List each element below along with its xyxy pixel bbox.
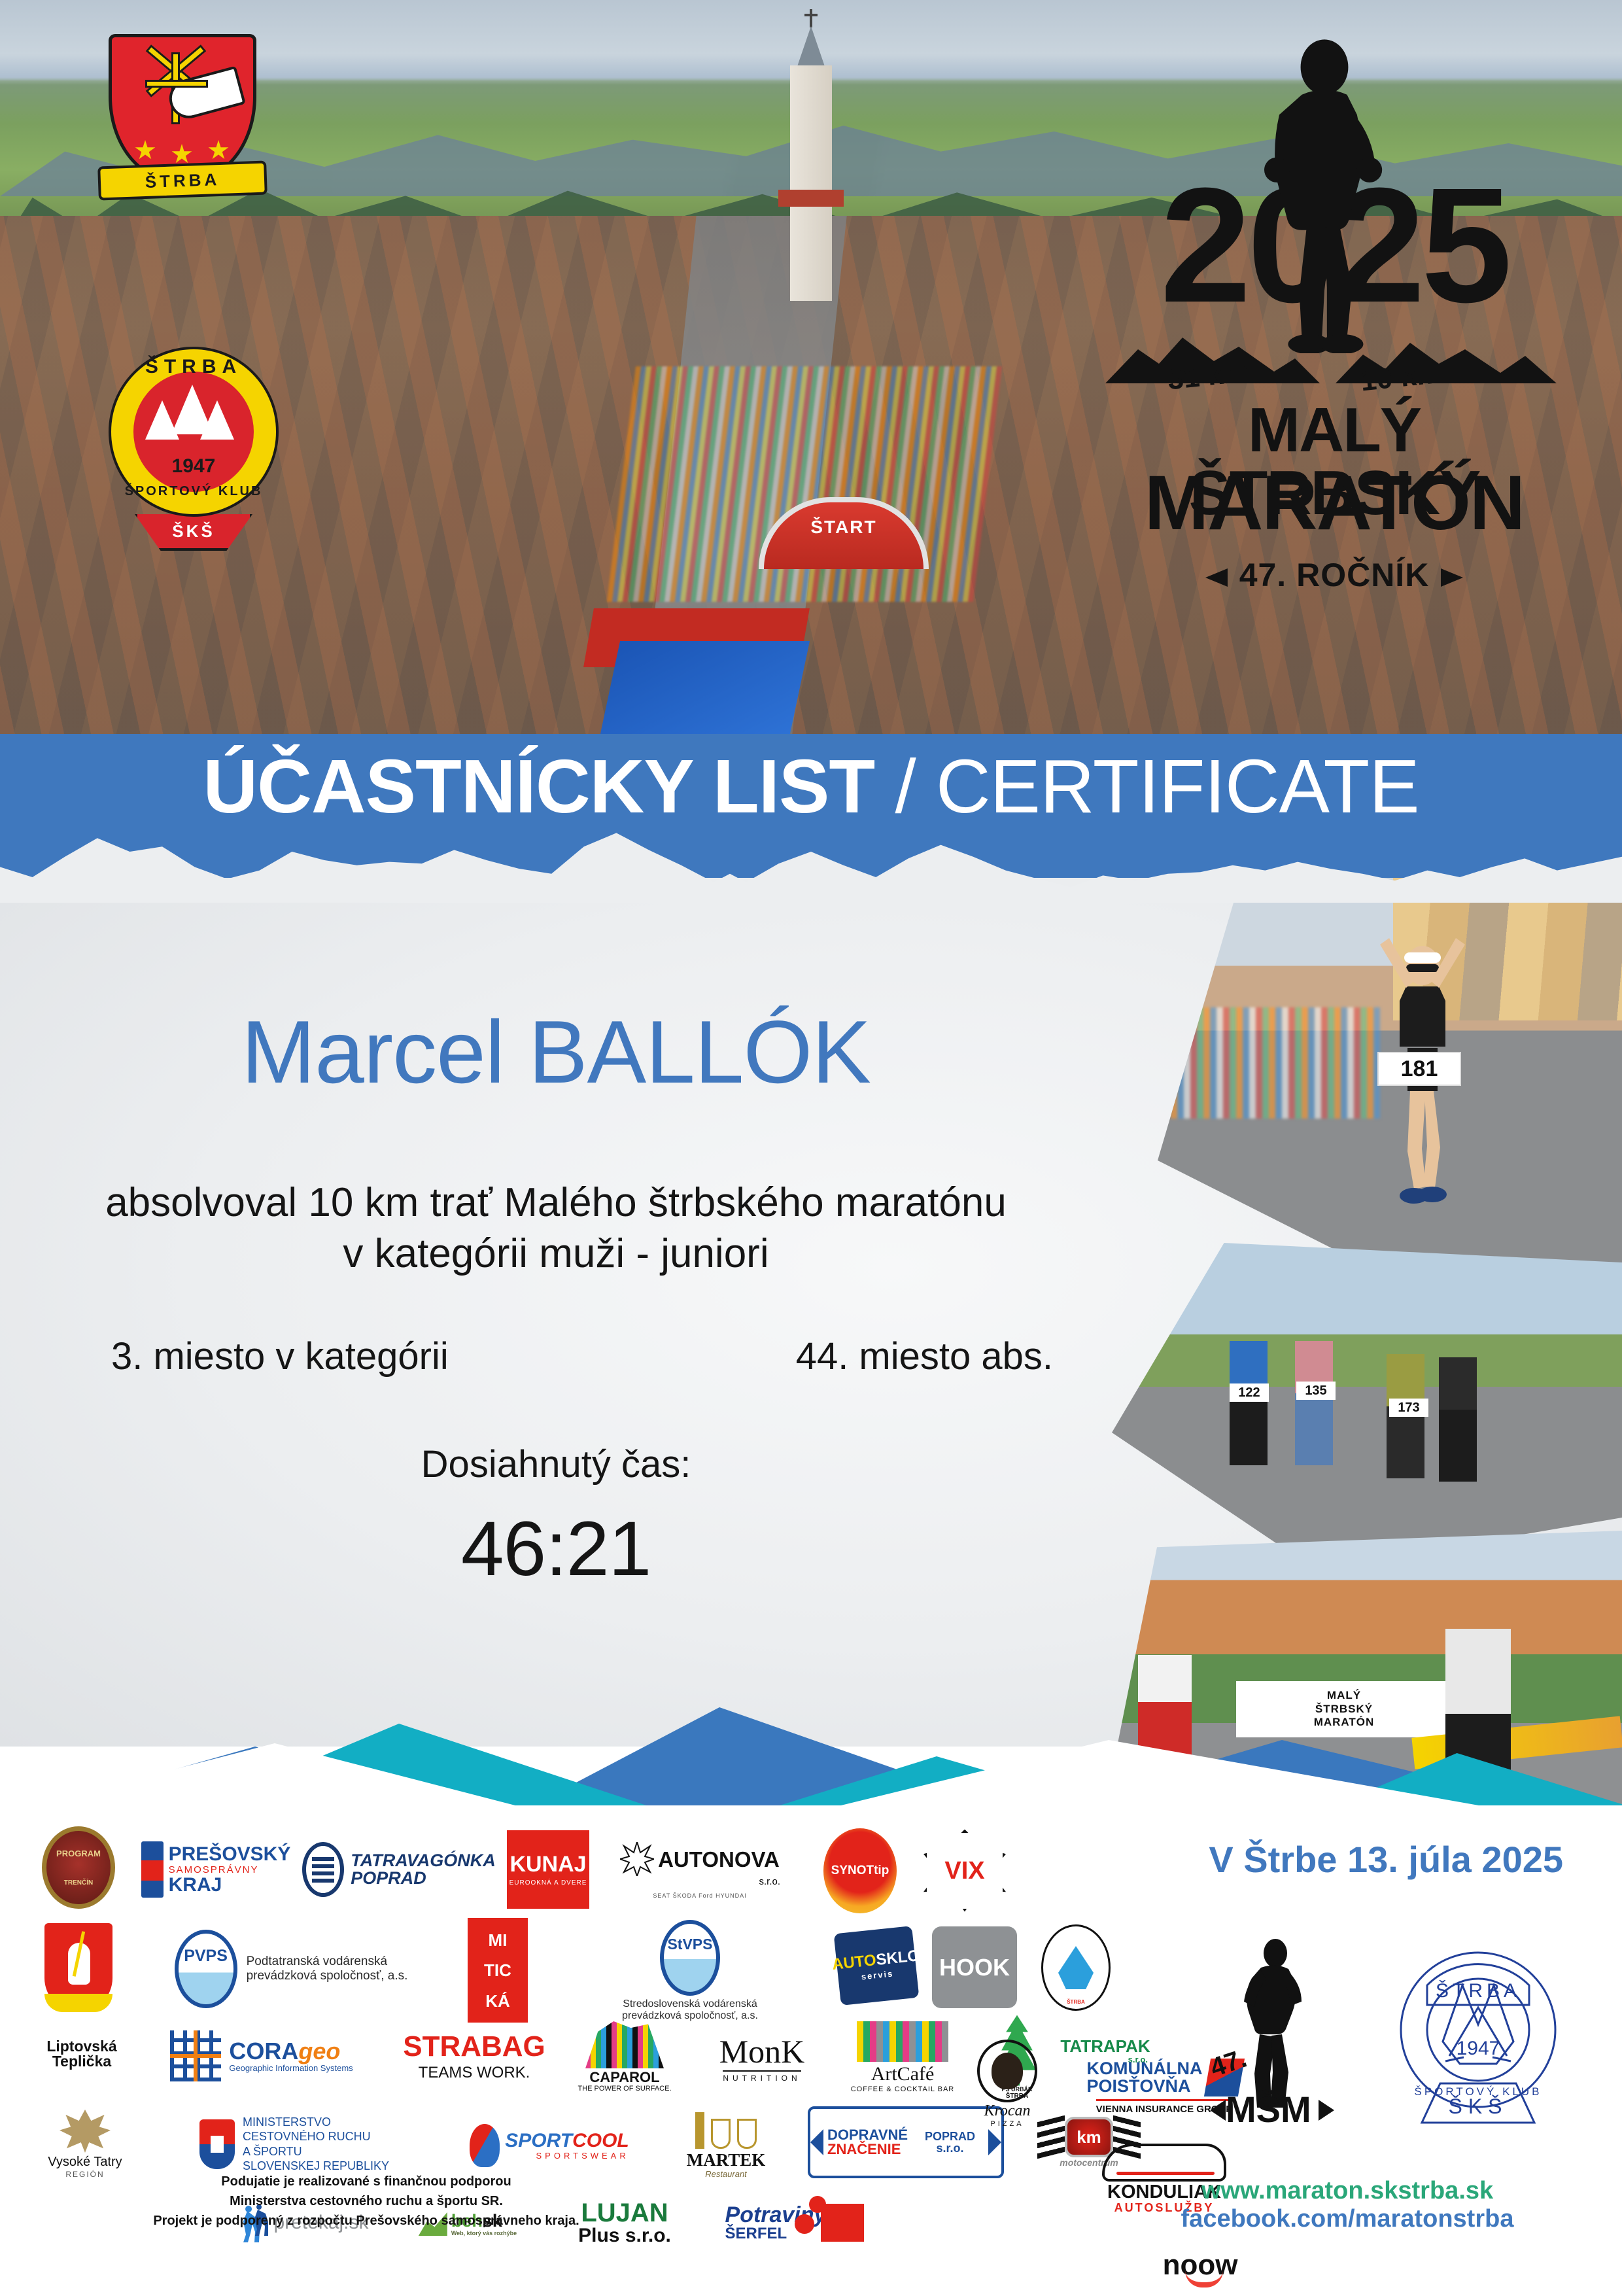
strba-coat-of-arms: ŠTRBA xyxy=(109,34,256,182)
edition-arrow-right-icon xyxy=(1441,568,1463,587)
club-logo-bottom-text: ŠPORTOVÝ KLUB xyxy=(109,484,279,499)
sponsor-name-line: POPRAD xyxy=(351,1870,495,1887)
support-statement: Podujatie je realizované s finančnou pod… xyxy=(72,2172,661,2231)
website-url[interactable]: www.maraton.skstrba.sk xyxy=(1118,2177,1576,2205)
sponsor-name-line: Restaurant xyxy=(705,2169,747,2179)
time-label: Dosiahnutý čas: xyxy=(0,1442,1112,1486)
sponsor-name-line: STRABAG xyxy=(403,2032,545,2061)
sks-abbr: ŠKŠ xyxy=(1448,2095,1508,2118)
club-logo-top-text: ŠTRBA xyxy=(109,356,279,378)
sponsor-logo[interactable] xyxy=(39,1920,118,2015)
certificate-title: ÚČASTNÍCKY LIST / CERTIFICATE xyxy=(0,748,1622,824)
sponsor-name-line: MINISTERSTVO xyxy=(243,2115,389,2130)
collage-photo-group-run: 122 135 173 xyxy=(1112,1243,1622,1570)
sponsor-logo[interactable]: SYNOTtip xyxy=(818,1826,903,1915)
support-line-1: Podujatie je realizované s finančnou pod… xyxy=(72,2172,661,2191)
sponsor-name-line: prevádzková spoločnosť, a.s. xyxy=(247,1969,408,1983)
sponsor-name-line: ArtCafé xyxy=(871,2063,935,2085)
sponsor-name-line: EUROOKNÁ A DVERE xyxy=(509,1879,587,1887)
sponsor-name-line: Krocan xyxy=(984,2102,1030,2120)
collage-runner xyxy=(1230,1341,1268,1465)
sponsor-name-line: Vysoké Tatry xyxy=(48,2155,122,2170)
sponsor-name-line: Liptovská xyxy=(46,2039,116,2054)
support-line-3: Projekt je podporený z rozpočtu Prešovsk… xyxy=(72,2211,661,2231)
title-separator: / xyxy=(874,744,936,829)
sponsor-logo[interactable]: PROGRAM TRENČÍN xyxy=(36,1825,121,1910)
sponsor-name-line: ŠTRBA xyxy=(1067,1999,1085,2005)
sponsor-name-line: servis xyxy=(861,1969,894,1981)
msm-abbr: MŠM xyxy=(1226,2089,1311,2130)
sponsor-logo[interactable]: AUTOSKLO servis xyxy=(834,1926,920,2006)
sponsor-name-line: TEAMS WORK. xyxy=(419,2064,530,2082)
sponsor-logo-grid: PROGRAM TRENČÍN PREŠOVSKÝ SAMOSPRÁVNY KR… xyxy=(36,1812,1148,2204)
msm-edition: 47. xyxy=(1207,2044,1250,2083)
sponsor-name-line: PVPS xyxy=(184,1948,228,1964)
sponsor-logo[interactable]: CAPAROL THE POWER OF SURFACE. xyxy=(572,2016,677,2098)
church-roof xyxy=(778,190,844,207)
collage-bib-number: 122 xyxy=(1230,1383,1269,1402)
collage-photo-finisher: 181 xyxy=(1158,877,1622,1282)
finish-time-value: 46:21 xyxy=(0,1505,1112,1593)
sponsor-name-line: SPORTSWEAR xyxy=(505,2151,629,2161)
starburst-icon xyxy=(620,1842,654,1876)
sponsor-name-line: Podtatranská vodárenská xyxy=(247,1955,408,1969)
sponsor-name-line: PIZZA xyxy=(990,2120,1024,2128)
sponsor-name-line: SAMOSPRÁVNY xyxy=(169,1864,291,1875)
runner-silhouette-icon xyxy=(1249,39,1400,353)
sponsor-logo[interactable]: ArtCafé COFFEE & COCKTAIL BAR xyxy=(840,2015,965,2100)
collage-bib-number: 135 xyxy=(1296,1382,1336,1400)
sponsor-name-line: ZNAČENIE xyxy=(827,2142,908,2157)
photo-collage: 181 122 135 173 MALÝ ŠTRBSKÝ MARATÓN xyxy=(1099,877,1622,1727)
sks-year: 1947 xyxy=(1457,2038,1500,2059)
sponsor-name-line: KÁ xyxy=(485,1992,510,2009)
sponsor-name-line: KOMUNÁLNA xyxy=(1087,2060,1203,2078)
sponsor-name-line: SYNOTtip xyxy=(831,1864,889,1877)
sponsor-name-line: HOOK xyxy=(939,1956,1010,1979)
sponsor-name-line: COFFEE & COCKTAIL BAR xyxy=(851,2085,955,2093)
sponsor-logo[interactable]: PREŠOVSKÝ SAMOSPRÁVNY KRAJ xyxy=(134,1830,298,1909)
sponsor-logo[interactable]: MonK NUTRITION xyxy=(697,2020,827,2095)
sponsor-name-line: CESTOVNÉHO RUCHU xyxy=(243,2129,389,2144)
sponsor-logo[interactable]: noow xyxy=(1138,2234,1262,2296)
event-edition: 47. ROČNÍK xyxy=(1099,556,1570,594)
event-logo: 2025 31 km 10 km MALÝ ŠTRBSKÝ MARATÓN 47… xyxy=(1099,39,1570,602)
sks-top-text: ŠTRBA xyxy=(1436,1979,1521,2002)
sponsor-name-line: MonK xyxy=(719,2032,805,2070)
sponsor-name-line: TATRAVAGÓNKA xyxy=(351,1852,495,1870)
sponsor-name-line: TRENČÍN xyxy=(64,1880,93,1887)
sponsor-name-line: TIC xyxy=(484,1962,511,1979)
edition-arrow-left-icon xyxy=(1205,568,1228,587)
sponsor-logo[interactable]: CORAgeo Geographic Information Systems xyxy=(141,2020,383,2092)
sponsor-logo[interactable]: KUNAJ EUROOKNÁ A DVERE xyxy=(507,1830,589,1909)
sponsor-name-line: NUTRITION xyxy=(723,2070,801,2083)
sponsor-logo[interactable]: HOOK xyxy=(932,1926,1017,2008)
edition-label: 47. ROČNÍK xyxy=(1239,557,1430,593)
msm-seal: 47. MŠM xyxy=(1203,1936,1341,2132)
club-logo-year: 1947 xyxy=(109,455,279,478)
sponsor-name-line: MARTEK xyxy=(687,2151,766,2169)
placement-row: 3. miesto v kategórii 44. miesto abs. xyxy=(65,1334,1099,1378)
sponsor-name-line: MI xyxy=(489,1932,508,1949)
support-line-2: Ministerstva cestovného ruchu a športu S… xyxy=(72,2191,661,2211)
sponsor-name-line: KUNAJ xyxy=(509,1853,586,1875)
hero-church xyxy=(772,26,850,301)
facebook-url[interactable]: facebook.com/maratonstrba xyxy=(1118,2205,1576,2233)
title-light-part: CERTIFICATE xyxy=(936,744,1419,829)
sponsor-name-line: Web, ktorý vás rozhýbe xyxy=(451,2230,517,2236)
sks-bottom-text: ŠPORTOVÝ KLUB xyxy=(1415,2085,1542,2098)
sponsor-name-line: THE POWER OF SURFACE. xyxy=(578,2085,671,2093)
sponsor-logo[interactable]: TATRAVAGÓNKA POPRAD xyxy=(307,1832,491,1907)
sponsor-name-line: Teplička xyxy=(52,2054,111,2069)
sks-stamp-icon: ŠTRBA 1947 ŠKŠ ŠPORTOVÝ KLUB xyxy=(1380,1926,1576,2136)
sponsor-name-line: POPRAD s.r.o. xyxy=(916,2131,984,2154)
club-logo-peak-center xyxy=(171,385,213,434)
sponsor-name-line: Geographic Information Systems xyxy=(229,2063,353,2073)
sponsor-logo[interactable]: VIX xyxy=(919,1826,1010,1915)
title-bold-part: ÚČASTNÍCKY LIST xyxy=(203,744,874,829)
place-absolute: 44. miesto abs. xyxy=(796,1334,1053,1378)
sponsor-logo[interactable]: Krocan PIZZA xyxy=(958,2038,1056,2129)
sponsor-logo[interactable]: PVPS Podtatranská vodárenská prevádzková… xyxy=(128,1923,455,2015)
collage-bib-number: 173 xyxy=(1389,1399,1428,1417)
description-line-2: v kategórii muži - juniori xyxy=(0,1228,1112,1279)
collage-spectators xyxy=(1171,1007,1380,1119)
sponsor-name-line: SEAT ŠKODA Ford HYUNDAI xyxy=(653,1892,746,1899)
certificate-date: V Štrbe 13. júla 2025 xyxy=(1209,1838,1563,1881)
sponsor-name-line: A ŠPORTU xyxy=(243,2144,389,2159)
sponsor-name-line: CAPAROL xyxy=(589,2070,659,2085)
sponsor-name-line: DOPRAVNÉ xyxy=(827,2128,908,2142)
place-in-category: 3. miesto v kategórii xyxy=(111,1334,449,1378)
msm-runner-icon: 47. MŠM xyxy=(1203,1936,1341,2132)
sponsor-logo[interactable]: StVPS Stredoslovenská vodárenská prevádz… xyxy=(553,1922,827,2020)
sponsor-name-line: AUTONOVA xyxy=(658,1849,780,1870)
sponsor-name-line: Stredoslovenská vodárenská xyxy=(623,1998,757,2010)
certificate-description: absolvoval 10 km trať Malého štrbského m… xyxy=(0,1177,1112,1279)
start-arch-label: ŠTART xyxy=(764,517,923,538)
sponsor-logo[interactable]: Potraviny ŠERFEL xyxy=(710,2190,880,2255)
collage-runner xyxy=(1439,1357,1477,1482)
sponsor-name-line: PROGRAM xyxy=(56,1849,101,1858)
sponsor-logo[interactable]: STRABAG TEAMS WORK. xyxy=(392,2021,556,2093)
sponsor-name-line: POISŤOVŇA xyxy=(1087,2078,1203,2095)
participant-name: Marcel BALLÓK xyxy=(0,1001,1112,1103)
sponsor-logo[interactable]: MI TIC KÁ xyxy=(468,1918,528,2023)
coat-crossbar xyxy=(145,80,208,88)
church-cross-icon xyxy=(810,9,812,27)
collage-runner xyxy=(1295,1341,1333,1465)
event-title-line2: MARATÓN xyxy=(1099,464,1570,542)
club-logo-sk-strba: ŠKŠ ŠTRBA 1947 ŠPORTOVÝ KLUB xyxy=(109,327,279,536)
sponsor-name-line: VIX xyxy=(944,1858,984,1883)
sponsor-logo[interactable]: Liptovská Teplička xyxy=(36,2025,128,2083)
description-line-1: absolvoval 10 km trať Malého štrbského m… xyxy=(0,1177,1112,1228)
web-links: www.maraton.skstrba.sk facebook.com/mara… xyxy=(1118,2177,1576,2233)
sponsor-name-line: PREŠOVSKÝ xyxy=(169,1845,291,1864)
coat-banner-label: ŠTRBA xyxy=(97,161,267,201)
collage-bib-number: 181 xyxy=(1377,1052,1461,1086)
sponsor-logo[interactable]: MARTEK Restaurant xyxy=(654,2100,798,2191)
sponsor-footer: V Štrbe 13. júla 2025 PROGRAM TRENČÍN PR… xyxy=(0,1805,1622,2295)
event-distances: 31 km 10 km xyxy=(1099,321,1570,399)
sks-stamp-seal: ŠTRBA 1947 ŠKŠ ŠPORTOVÝ KLUB xyxy=(1380,1926,1576,2136)
sponsor-logo[interactable]: AUTONOVA s.r.o. SEAT ŠKODA Ford HYUNDAI xyxy=(605,1826,795,1915)
church-tower xyxy=(790,65,832,301)
sponsor-name-line: StVPS xyxy=(667,1937,712,1952)
sponsor-logo[interactable]: ŠTRBA xyxy=(1037,1922,1115,2013)
sponsor-name-line: KRAJ xyxy=(169,1875,291,1895)
sponsor-name-line: s.r.o. xyxy=(759,1876,780,1887)
